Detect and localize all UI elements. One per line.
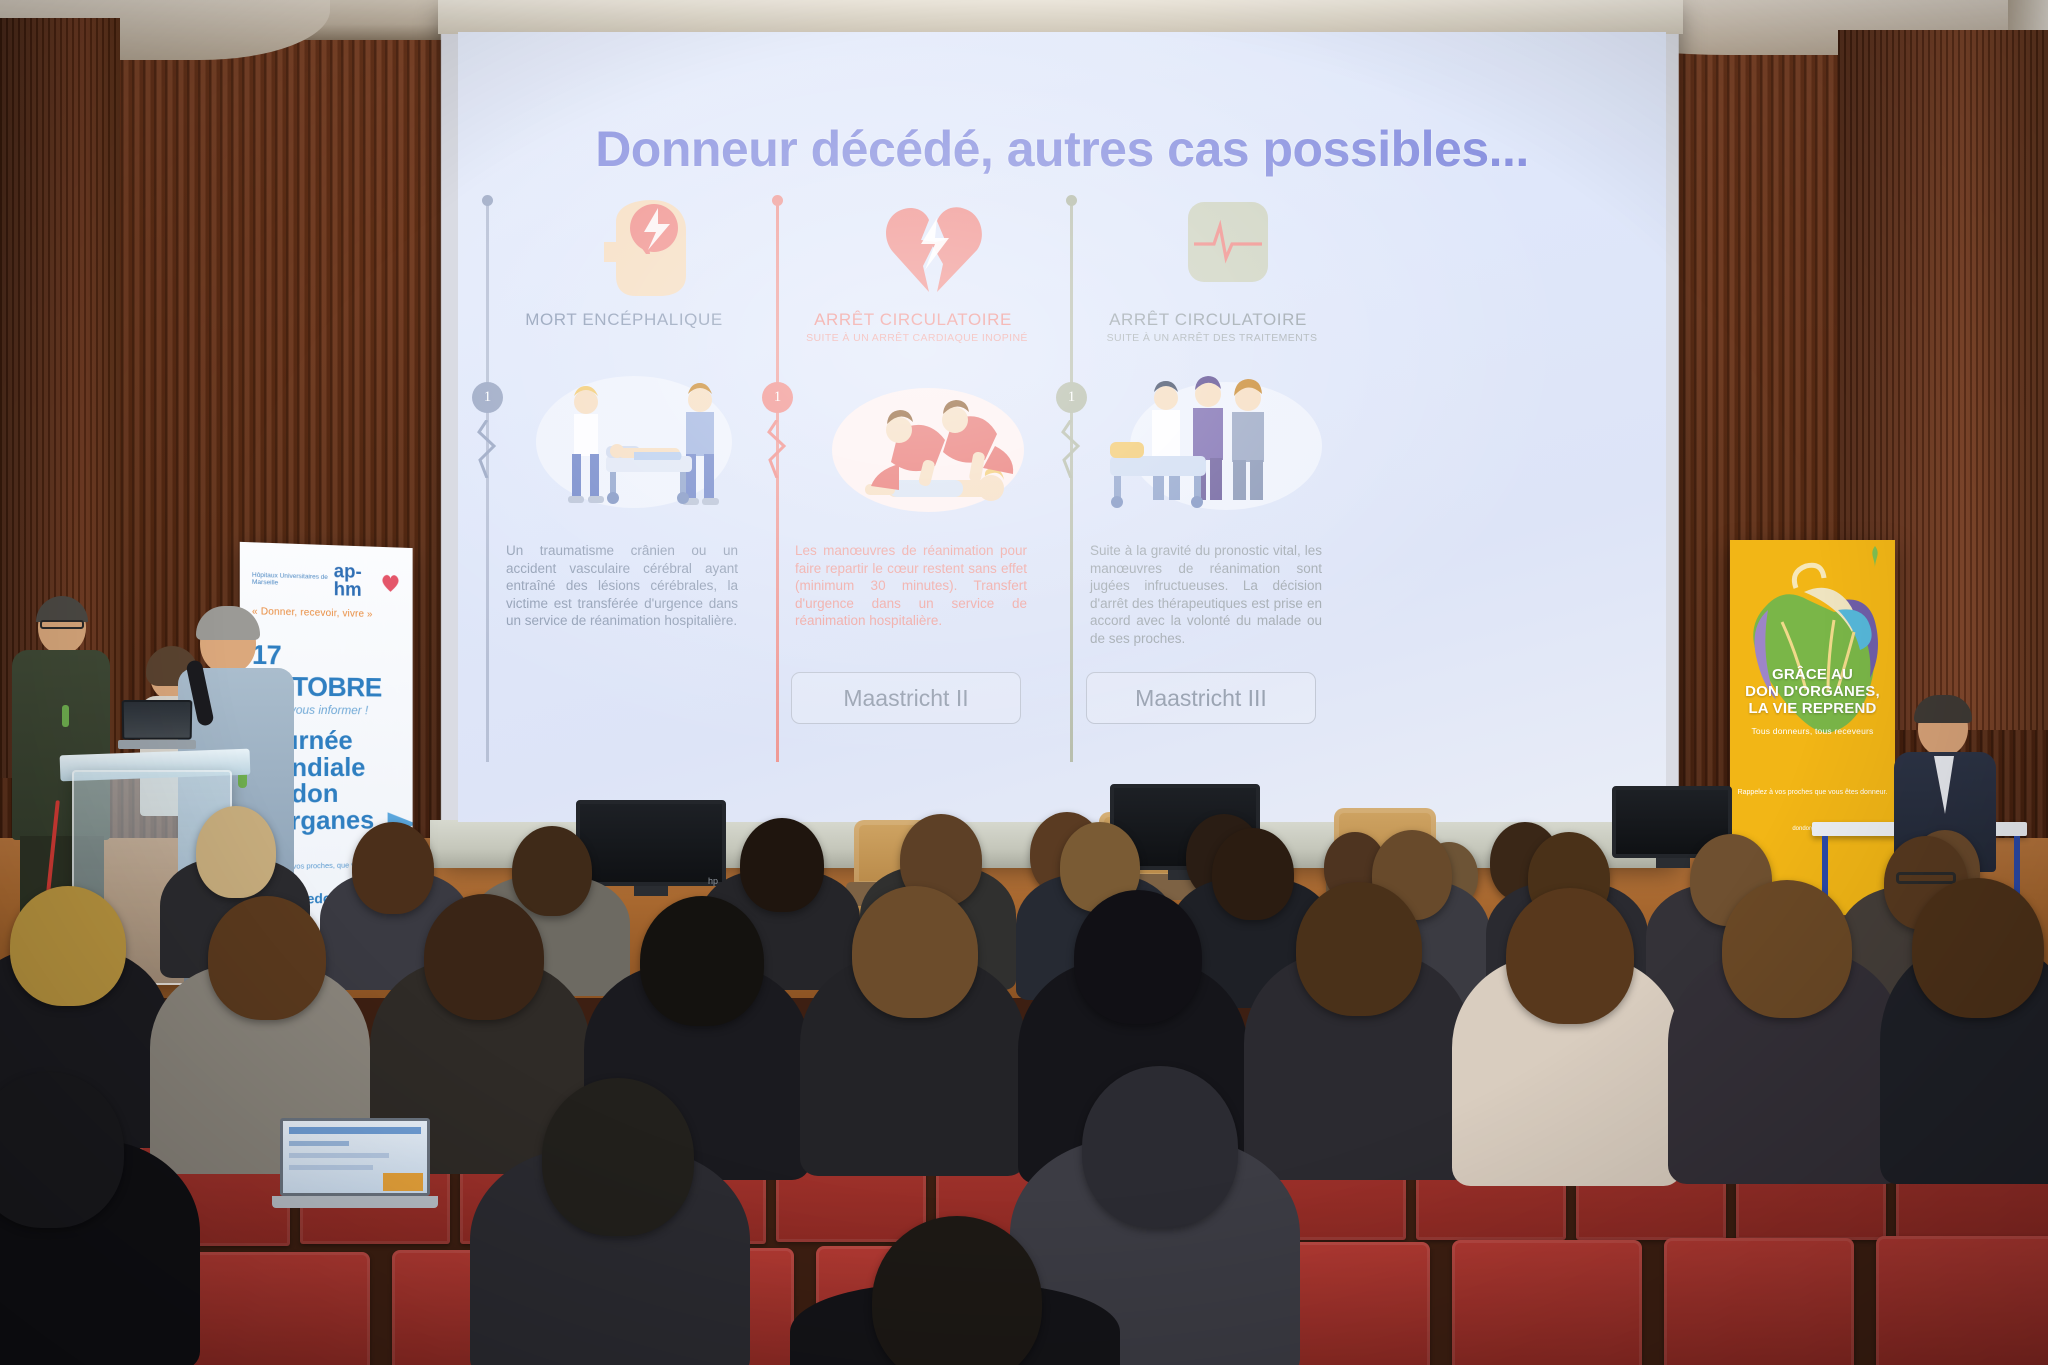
- speaker-hair: [36, 596, 88, 622]
- document-line: [289, 1127, 421, 1134]
- theatre-seat: [1452, 1240, 1642, 1365]
- attendee-head: [424, 894, 544, 1020]
- projection-screen-roller: [438, 0, 1683, 34]
- head-brain-lightning-icon: [564, 196, 724, 286]
- step-badge-2: 1: [762, 382, 793, 413]
- document-chart: [383, 1173, 423, 1191]
- step-badge-1: 1: [472, 382, 503, 413]
- document-line: [289, 1165, 373, 1170]
- banner-hospital-label: Hôpitaux Universitaires de Marseille: [252, 572, 329, 589]
- maastricht-tag-ii[interactable]: Maastricht II: [791, 672, 1021, 724]
- laptop-keyboard[interactable]: [272, 1196, 438, 1208]
- cpr-resuscitation-icon: [803, 372, 1053, 522]
- maastricht-tag-iii[interactable]: Maastricht III: [1086, 672, 1316, 724]
- column-paragraph: Un traumatisme crânien ou un accident va…: [506, 542, 738, 630]
- column-heading: MORT ENCÉPHALIQUE: [494, 310, 754, 330]
- banner-right-line-2: DON D'ORGANES,: [1730, 683, 1895, 700]
- column-subheading: SUITE À UN ARRÊT CARDIAQUE INOPINÉ: [783, 332, 1051, 344]
- attendee-head: [1722, 880, 1852, 1018]
- heart-hands-icon: [380, 572, 401, 594]
- theatre-seat: [1664, 1238, 1854, 1365]
- attendee-head: [1296, 882, 1422, 1016]
- attendee-head: [640, 896, 764, 1026]
- attendee-head: [1506, 888, 1634, 1024]
- banner-right-footnote: Rappelez à vos proches que vous êtes don…: [1730, 788, 1895, 797]
- zigzag-break-icon: [767, 420, 787, 483]
- banner-right-headline: GRÂCE AU DON D'ORGANES, LA VIE REPREND: [1730, 666, 1895, 717]
- slide-title: Donneur décédé, autres cas possibles...: [458, 120, 1666, 178]
- slide-columns: 1 1 1: [458, 192, 1666, 812]
- green-ribbon-icon: [62, 705, 69, 727]
- column-paragraph: Suite à la gravité du pronostic vital, l…: [1090, 542, 1322, 647]
- banner-right-line-3: LA VIE REPREND: [1730, 700, 1895, 717]
- attendee-head: [542, 1078, 694, 1236]
- attendee-head: [196, 806, 276, 898]
- laptop-screen: [122, 700, 193, 740]
- attendee-head: [740, 818, 824, 912]
- attendee-head: [1212, 828, 1294, 920]
- theatre-seat: [180, 1252, 370, 1365]
- auditorium-scene: Donneur décédé, autres cas possibles... …: [0, 0, 2048, 1365]
- confidence-monitor-left: hp: [576, 800, 726, 896]
- column-subheading: SUITE À UN ARRÊT DES TRAITEMENTS: [1078, 332, 1346, 344]
- laptop-on-lectern: [118, 700, 196, 752]
- audience-area: hp hp hp: [0, 880, 2048, 1365]
- attendee-head: [208, 896, 326, 1020]
- attendee-head: [10, 886, 126, 1006]
- broken-heart-lightning-icon: [853, 196, 1013, 286]
- document-line: [289, 1153, 389, 1158]
- column-heading: ARRÊT CIRCULATOIRE: [1078, 310, 1338, 330]
- column-divider-2: 1: [776, 202, 779, 762]
- laptop-screen: [280, 1118, 430, 1196]
- theatre-seat: [1876, 1236, 2048, 1365]
- column-divider-1: 1: [486, 202, 489, 762]
- eyeglasses-icon: [1896, 872, 1956, 884]
- monitor-stand: [1656, 858, 1690, 868]
- monitor-stand: [634, 886, 668, 896]
- column-heading: ARRÊT CIRCULATOIRE: [783, 310, 1043, 330]
- column-paragraph: Les manœuvres de réanimation pour faire …: [795, 542, 1027, 630]
- monitor-screen: [576, 800, 726, 886]
- column-divider-3: 1: [1070, 202, 1073, 762]
- attendee-head: [852, 886, 978, 1018]
- divider-dot: [772, 195, 783, 206]
- banner-aphm-logo: ap-hm: [334, 563, 375, 600]
- divider-dot: [1066, 195, 1077, 206]
- attendee-head: [512, 826, 592, 916]
- projected-slide: Donneur décédé, autres cas possibles... …: [458, 32, 1666, 822]
- doctor-with-family-bedside-icon: [1098, 372, 1348, 522]
- attendee-head-hijab: [1082, 1066, 1238, 1228]
- moderator-hair: [1914, 695, 1972, 723]
- anatomical-heart-icon: [1738, 558, 1886, 768]
- divider-dot: [482, 195, 493, 206]
- document-line: [289, 1141, 349, 1146]
- zigzag-break-icon: [477, 420, 497, 483]
- attendee-head: [1912, 878, 2044, 1018]
- open-laptop-with-document[interactable]: [280, 1118, 430, 1218]
- patient-on-gurney-with-two-medics-icon: [514, 372, 764, 522]
- banner-logo-row: Hôpitaux Universitaires de Marseille ap-…: [252, 561, 401, 602]
- attendee-head: [352, 822, 434, 914]
- zigzag-break-icon: [1061, 420, 1081, 483]
- attendee-head: [1074, 890, 1202, 1024]
- flatline-monitor-icon: [1148, 196, 1308, 286]
- speaker-hair: [196, 606, 260, 640]
- eyeglasses-icon: [40, 620, 84, 629]
- banner-right-line-1: GRÂCE AU: [1730, 666, 1895, 683]
- banner-right-tagline: Tous donneurs, tous receveurs: [1730, 726, 1895, 736]
- laptop-keyboard: [118, 740, 196, 749]
- step-badge-3: 1: [1056, 382, 1087, 413]
